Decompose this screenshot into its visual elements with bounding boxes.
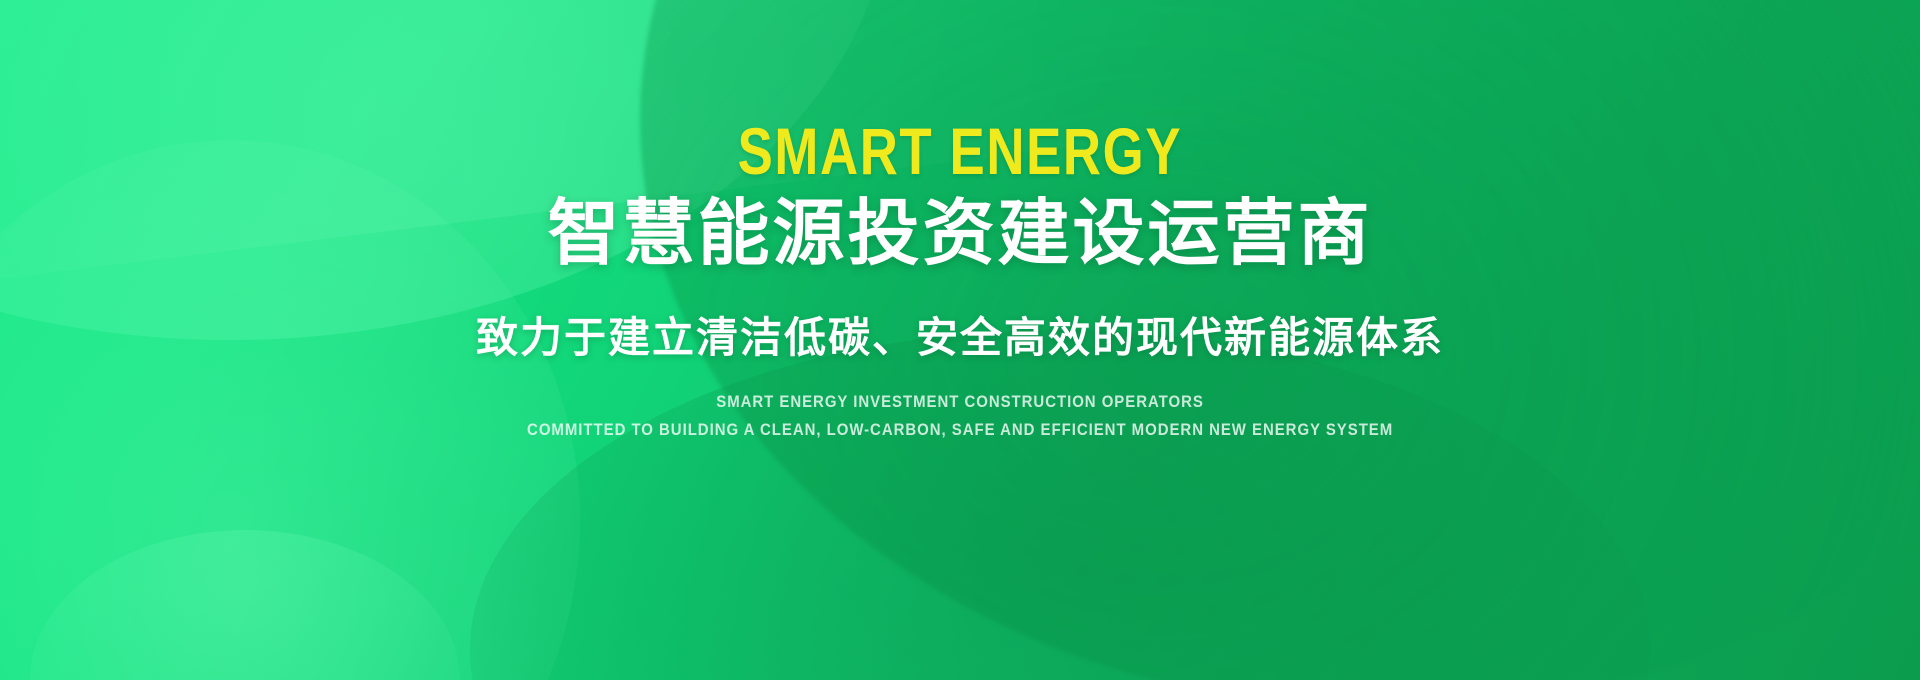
- banner-caption-english-line-2: COMMITTED TO BUILDING A CLEAN, LOW-CARBO…: [527, 417, 1393, 443]
- hero-banner: SMART ENERGY 智慧能源投资建设运营商 致力于建立清洁低碳、安全高效的…: [0, 0, 1920, 680]
- banner-subtitle-chinese: 致力于建立清洁低碳、安全高效的现代新能源体系: [476, 313, 1444, 363]
- banner-content: SMART ENERGY 智慧能源投资建设运营商 致力于建立清洁低碳、安全高效的…: [0, 0, 1920, 680]
- banner-caption-english-line-1: SMART ENERGY INVESTMENT CONSTRUCTION OPE…: [716, 389, 1204, 415]
- banner-title-chinese: 智慧能源投资建设运营商: [547, 194, 1372, 275]
- banner-title-english: SMART ENERGY: [738, 118, 1183, 184]
